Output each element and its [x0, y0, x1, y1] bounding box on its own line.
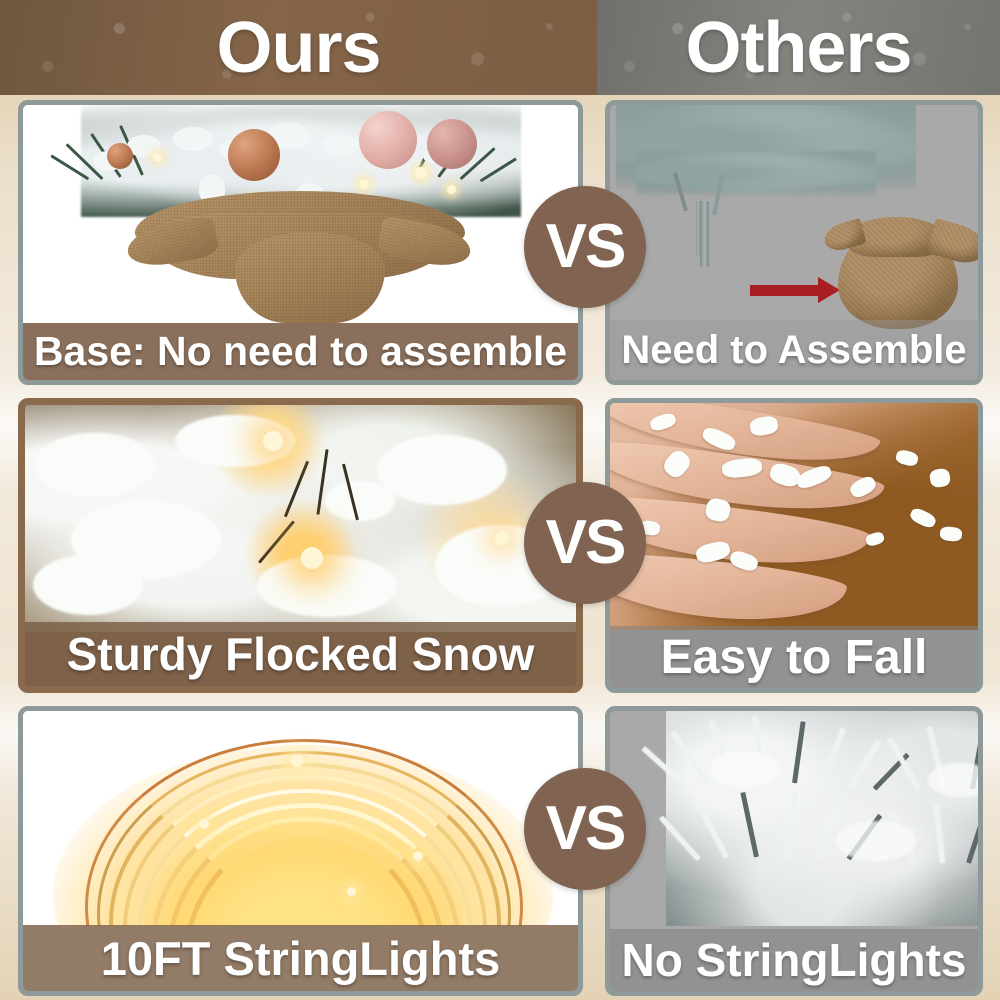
comparison-row-lights: 10FT StringLights: [0, 706, 1000, 996]
light-dot-icon: [153, 153, 162, 162]
light-dot-icon: [291, 755, 303, 767]
light-dot-icon: [263, 431, 283, 451]
light-dot-icon: [347, 887, 356, 896]
comparison-row-flocking: Sturdy Flocked Snow: [0, 398, 1000, 693]
light-dot-icon: [495, 531, 509, 545]
ornament-copper: [228, 129, 280, 181]
card-ours-base[interactable]: Base: No need to assemble: [18, 100, 583, 385]
photo-ours-base: [23, 105, 578, 323]
snow-flake-piece: [939, 526, 962, 542]
snow-flake-piece: [929, 468, 951, 489]
photo-others-flocking: [610, 403, 978, 630]
card-others-flocking[interactable]: Easy to Fall: [605, 398, 983, 693]
comparison-infographic: Ours Others: [0, 0, 1000, 1000]
vs-badge-label: VS: [546, 512, 625, 574]
vs-badge-label: VS: [546, 216, 625, 278]
vs-badge-row2: VS: [524, 482, 646, 604]
snow-flake-piece: [895, 449, 920, 468]
tree-pole: [700, 201, 709, 267]
header-title-ours: Ours: [216, 12, 380, 84]
vs-badge-row3: VS: [524, 768, 646, 890]
assembly-arrow-shaft: [750, 285, 820, 296]
caption-others-base: Need to Assemble: [610, 320, 978, 380]
snow-flake-piece: [908, 506, 938, 530]
card-ours-flocking[interactable]: Sturdy Flocked Snow: [18, 398, 583, 693]
caption-others-flocking: Easy to Fall: [610, 626, 978, 688]
header-cell-others: Others: [597, 0, 1000, 95]
comparison-row-base: Base: No need to assemble Need to Assemb…: [0, 100, 1000, 385]
caption-ours-flocking: Sturdy Flocked Snow: [25, 622, 576, 686]
caption-ours-lights: 10FT StringLights: [23, 925, 578, 991]
light-dot-icon: [359, 179, 369, 189]
light-dot-icon: [415, 167, 427, 179]
light-dot-icon: [301, 547, 323, 569]
caption-others-lights: No StringLights: [610, 929, 978, 991]
light-dot-icon: [413, 851, 423, 861]
card-others-base[interactable]: Need to Assemble: [605, 100, 983, 385]
header-bar: Ours Others: [0, 0, 1000, 95]
light-dot-icon: [447, 185, 456, 194]
photo-ours-lights: [23, 711, 578, 926]
ornament-copper-small: [107, 143, 133, 169]
vs-badge-label: VS: [546, 798, 625, 860]
photo-others-lights: [666, 711, 978, 926]
ornament-rose: [427, 119, 477, 169]
ornament-pink: [359, 111, 417, 169]
assembly-arrow-head: [818, 277, 840, 303]
caption-ours-base: Base: No need to assemble: [23, 323, 578, 380]
light-dot-icon: [199, 819, 209, 829]
card-ours-lights[interactable]: 10FT StringLights: [18, 706, 583, 996]
header-title-others: Others: [685, 12, 911, 84]
header-cell-ours: Ours: [0, 0, 597, 95]
card-others-lights[interactable]: No StringLights: [605, 706, 983, 996]
photo-ours-flocking: [25, 405, 576, 632]
vs-badge-row1: VS: [524, 186, 646, 308]
